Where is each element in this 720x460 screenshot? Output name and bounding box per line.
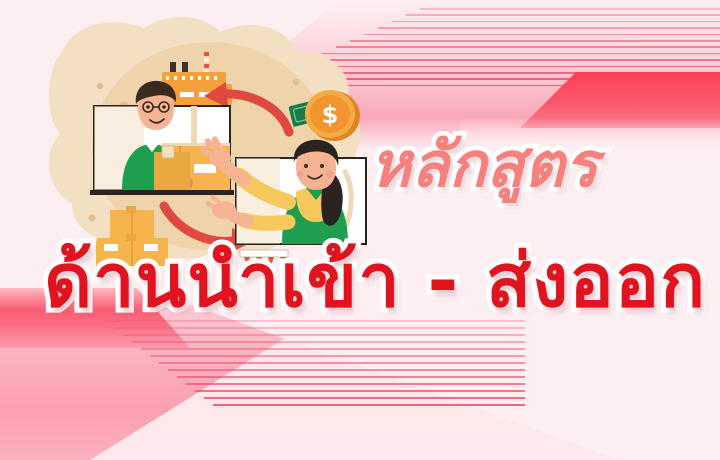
stripe-line bbox=[406, 14, 720, 16]
stripe-line bbox=[186, 383, 525, 385]
stripe-line bbox=[350, 40, 720, 42]
stripe-line bbox=[114, 327, 525, 329]
stripe-line bbox=[141, 348, 525, 350]
stripe-line bbox=[378, 27, 720, 29]
stripe-line bbox=[159, 362, 525, 364]
svg-text:$: $ bbox=[322, 101, 339, 129]
stripe-line bbox=[132, 341, 525, 343]
stripe-line bbox=[150, 355, 525, 357]
stripe-line bbox=[168, 369, 525, 371]
stripe-line bbox=[195, 390, 525, 392]
stripe-line bbox=[123, 334, 525, 336]
headline-line-2: ด้านนำเข้า - ส่งออก bbox=[44, 244, 706, 318]
top-right-red-parallelogram bbox=[520, 72, 720, 128]
stripe-line bbox=[364, 34, 720, 36]
stripe-line bbox=[420, 8, 720, 10]
bottom-left-stripe-group bbox=[105, 320, 545, 412]
stripe-line bbox=[336, 46, 720, 48]
stripe-line bbox=[392, 21, 720, 23]
promo-banner: $ $ bbox=[0, 0, 720, 460]
headline-line-1: หลักสูตร bbox=[370, 134, 598, 196]
stripe-line bbox=[213, 404, 525, 406]
stripe-line bbox=[177, 376, 525, 378]
stripe-line bbox=[322, 53, 720, 55]
stripe-line bbox=[204, 397, 525, 399]
